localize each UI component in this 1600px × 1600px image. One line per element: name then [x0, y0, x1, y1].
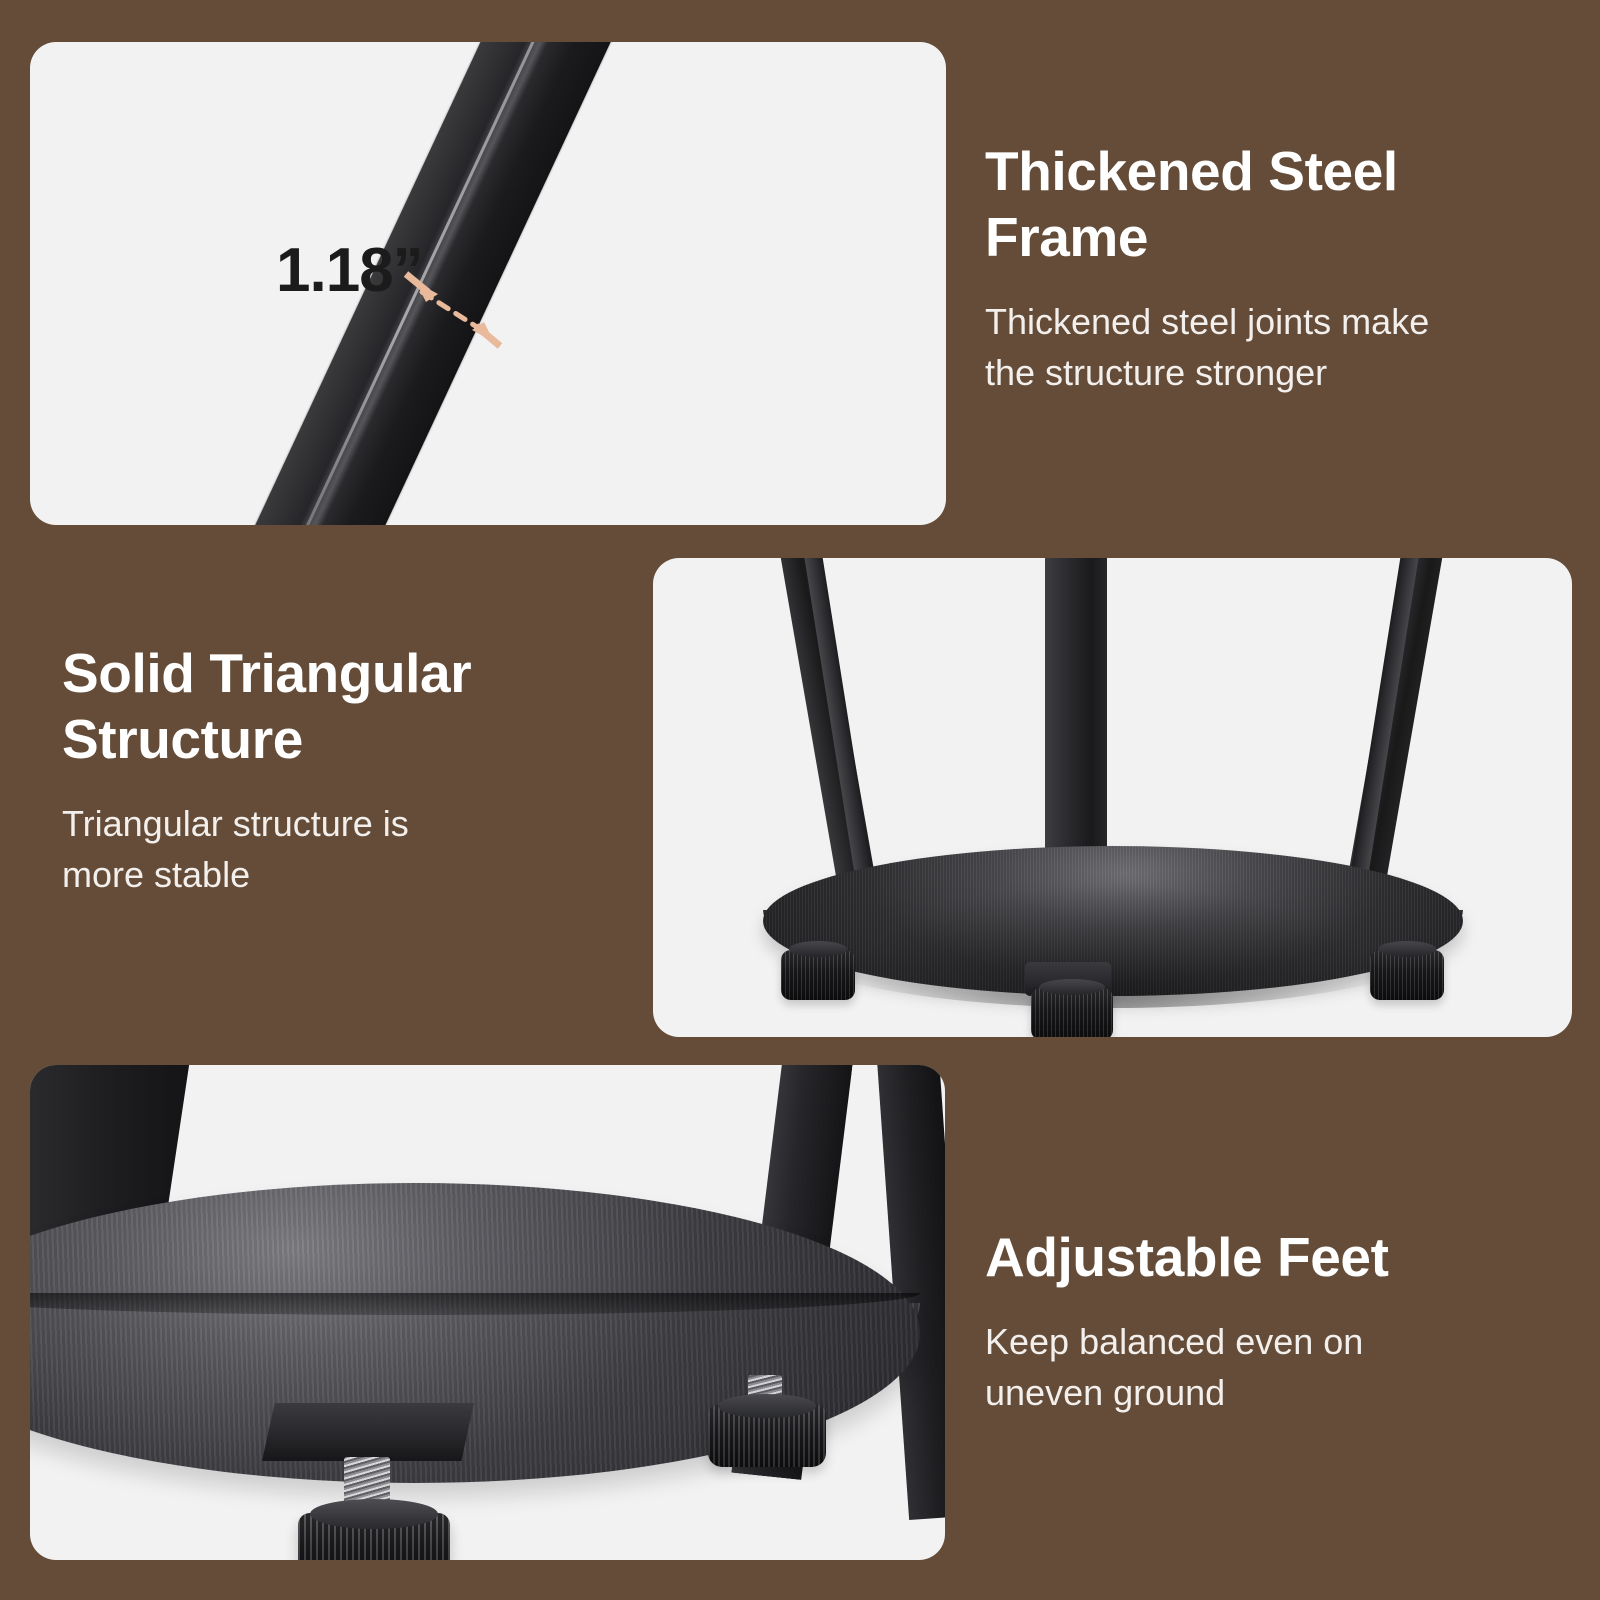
steel-frame-title: Thickened Steel Frame [985, 138, 1545, 270]
adjustable-foot-front [1031, 988, 1113, 1037]
knurled-adjuster-knob-rear [708, 1405, 826, 1467]
infographic-canvas: 1.18” Thickened Steel Frame Thickened st… [0, 0, 1600, 1600]
triangular-structure-text-block: Solid Triangular Structure Triangular st… [62, 640, 602, 900]
adjustable-feet-title: Adjustable Feet [985, 1224, 1545, 1290]
adjustable-feet-photo-panel [30, 1065, 945, 1560]
triangular-structure-photo-panel [653, 558, 1572, 1037]
triangular-structure-description: Triangular structure is more stable [62, 798, 602, 900]
adjustable-foot-left [781, 950, 855, 1000]
steel-frame-text-block: Thickened Steel Frame Thickened steel jo… [985, 138, 1545, 398]
steel-frame-description: Thickened steel joints make the structur… [985, 296, 1545, 398]
triangular-structure-title: Solid Triangular Structure [62, 640, 602, 772]
shelf-shadow [763, 858, 1463, 1008]
steel-frame-photo-panel: 1.18” [30, 42, 946, 525]
table-base-illustration [653, 558, 1572, 1037]
adjustable-feet-text-block: Adjustable Feet Keep balanced even on un… [985, 1224, 1545, 1418]
center-steel-post [1045, 558, 1107, 878]
foot-mounting-bracket [262, 1403, 474, 1461]
adjustable-feet-illustration [30, 1065, 945, 1560]
adjustable-foot-right [1370, 950, 1444, 1000]
knurled-adjuster-knob [298, 1513, 450, 1560]
adjustable-feet-description: Keep balanced even on uneven ground [985, 1316, 1545, 1418]
dimension-measurement-label: 1.18” [276, 240, 423, 302]
